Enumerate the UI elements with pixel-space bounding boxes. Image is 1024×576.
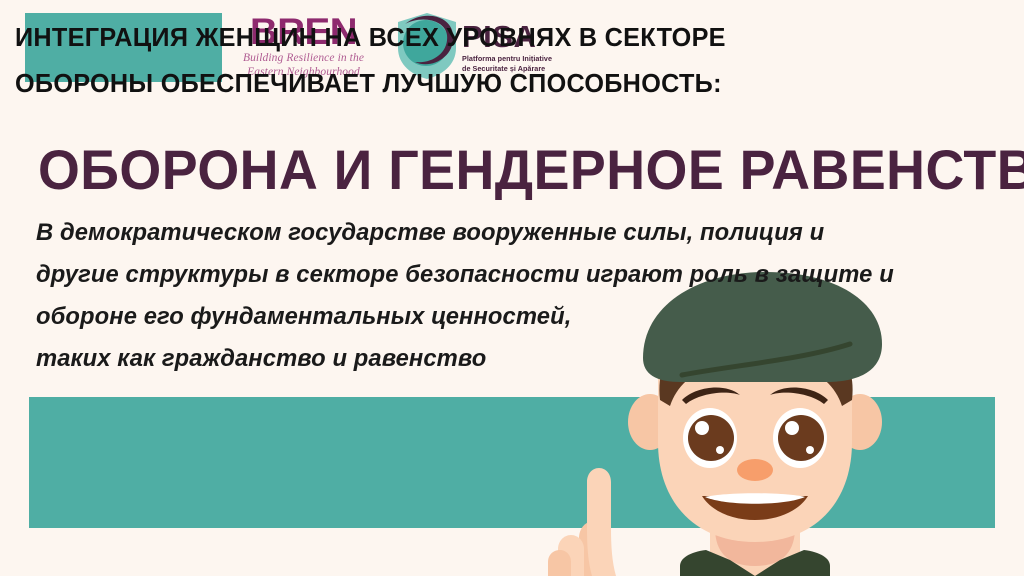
callout-line: ИНТЕГРАЦИЯ ЖЕНЩИН НА ВСЕХ УРОВНЯХ В СЕКТ…	[15, 14, 655, 60]
page-title: ОБОРОНА И ГЕНДЕРНОЕ РАВЕНСТВО	[38, 142, 902, 198]
callout-text: ИНТЕГРАЦИЯ ЖЕНЩИН НА ВСЕХ УРОВНЯХ В СЕКТ…	[15, 14, 675, 106]
body-line: обороне его фундаментальных ценностей,	[36, 296, 880, 338]
neck-and-uniform	[680, 528, 830, 576]
body-paragraph: В демократическом государстве вооруженны…	[36, 212, 906, 380]
body-line: таких как гражданство и равенство	[36, 338, 880, 380]
body-line: В демократическом государстве вооруженны…	[36, 212, 880, 254]
slide-canvas: BREN Building Resilience in the Eastern …	[0, 0, 1024, 576]
body-line: другие структуры в секторе безопасности …	[36, 254, 880, 296]
callout-banner	[29, 397, 995, 528]
callout-line: ОБОРОНЫ ОБЕСПЕЧИВАЕТ ЛУЧШУЮ СПОСОБНОСТЬ:	[15, 60, 655, 106]
